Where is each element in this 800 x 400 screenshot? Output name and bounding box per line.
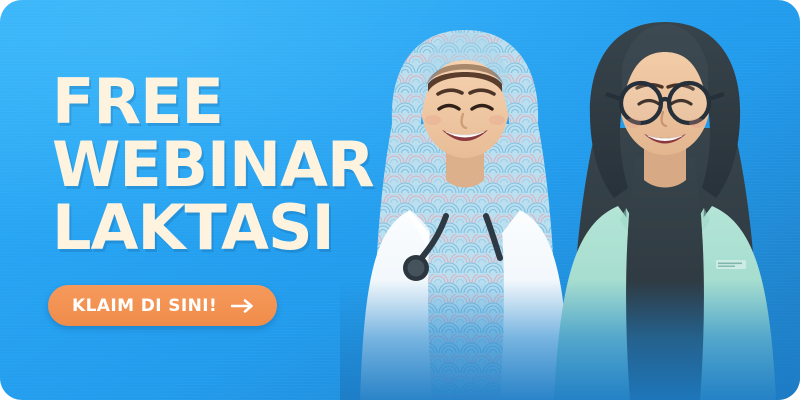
arrow-right-icon [231, 298, 255, 314]
person-doctor-right [540, 8, 790, 400]
people-illustration [340, 0, 800, 400]
headline-line-3: LAKTASI [52, 198, 374, 259]
page-title: FREE WEBINAR LAKTASI [52, 72, 374, 258]
promo-banner: FREE WEBINAR LAKTASI KLAIM DI SINI! [0, 0, 800, 400]
claim-here-button[interactable]: KLAIM DI SINI! [48, 285, 277, 326]
headline-line-2: WEBINAR [52, 135, 374, 196]
claim-here-button-label: KLAIM DI SINI! [72, 296, 217, 316]
headline-line-1: FREE [52, 72, 374, 133]
